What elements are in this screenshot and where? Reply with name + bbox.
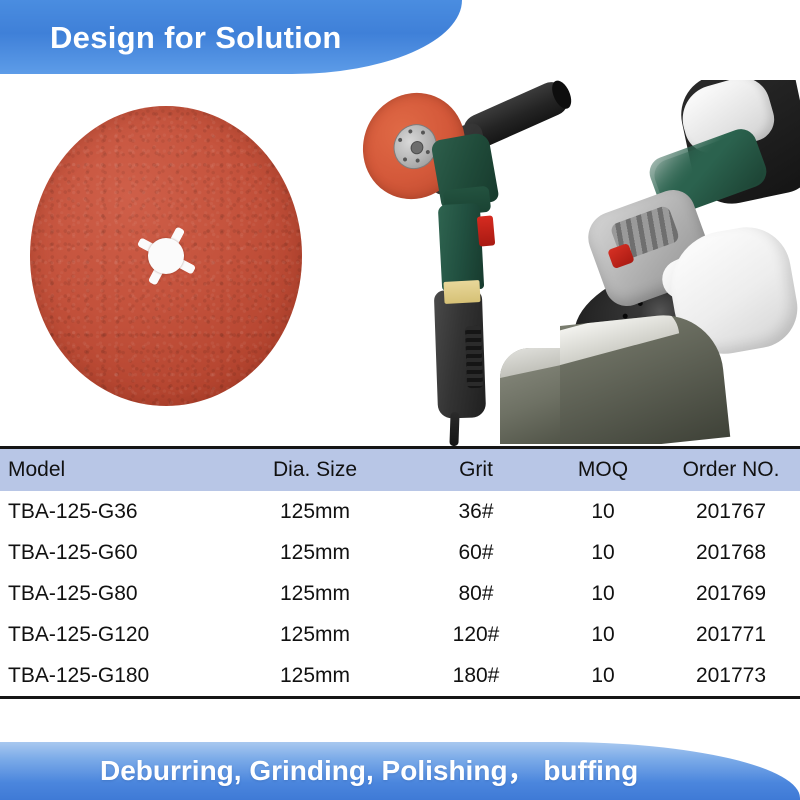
spec-table-container: Model Dia. Size Grit MOQ Order NO. TBA-1…: [0, 446, 800, 699]
cell-grit: 80#: [408, 573, 544, 614]
column-header-order-no: Order NO.: [662, 448, 800, 492]
footer-tagline: Deburring, Grinding, Polishing， buffing: [0, 757, 638, 785]
product-photo-grinder-in-use: [560, 80, 800, 444]
cell-order-no: 201771: [662, 614, 800, 655]
cell-dia-size: 125mm: [222, 532, 408, 573]
cell-order-no: 201773: [662, 655, 800, 698]
product-image-strip: [0, 76, 800, 446]
cell-grit: 120#: [408, 614, 544, 655]
cell-model: TBA-125-G180: [0, 655, 222, 698]
cell-dia-size: 125mm: [222, 614, 408, 655]
table-row: TBA-125-G180 125mm 180# 10 201773: [0, 655, 800, 698]
flange-bolt-icon: [421, 130, 426, 135]
table-row: TBA-125-G36 125mm 36# 10 201767: [0, 491, 800, 532]
cell-grit: 36#: [408, 491, 544, 532]
cell-grit: 60#: [408, 532, 544, 573]
cell-dia-size: 125mm: [222, 655, 408, 698]
cell-order-no: 201767: [662, 491, 800, 532]
flange-bolt-icon: [398, 137, 403, 142]
flange-bolt-icon: [415, 158, 420, 163]
product-photo-angle-grinder: [340, 76, 570, 444]
spec-table-body: TBA-125-G36 125mm 36# 10 201767 TBA-125-…: [0, 491, 800, 698]
table-row: TBA-125-G60 125mm 60# 10 201768: [0, 532, 800, 573]
column-header-grit: Grit: [408, 448, 544, 492]
spec-table-header: Model Dia. Size Grit MOQ Order NO.: [0, 448, 800, 492]
cell-order-no: 201769: [662, 573, 800, 614]
cell-grit: 180#: [408, 655, 544, 698]
cell-dia-size: 125mm: [222, 573, 408, 614]
table-header-row: Model Dia. Size Grit MOQ Order NO.: [0, 448, 800, 492]
cell-model: TBA-125-G36: [0, 491, 222, 532]
cell-moq: 10: [544, 532, 662, 573]
column-header-model: Model: [0, 448, 222, 492]
arbor-nut: [409, 139, 425, 156]
grinder-power-switch: [477, 215, 496, 246]
column-header-moq: MOQ: [544, 448, 662, 492]
grinder-air-vents: [465, 326, 483, 389]
table-row: TBA-125-G80 125mm 80# 10 201769: [0, 573, 800, 614]
flange-bolt-icon: [403, 157, 408, 162]
fiber-disc-face: [30, 106, 302, 406]
cell-model: TBA-125-G120: [0, 614, 222, 655]
page-title: Design for Solution: [0, 22, 342, 53]
footer-banner: Deburring, Grinding, Polishing， buffing: [0, 742, 800, 800]
grinder-spec-label: [443, 280, 480, 304]
header-banner: Design for Solution: [0, 0, 462, 74]
column-header-dia-size: Dia. Size: [222, 448, 408, 492]
cell-moq: 10: [544, 573, 662, 614]
table-row: TBA-125-G120 125mm 120# 10 201771: [0, 614, 800, 655]
flange-bolt-icon: [425, 149, 430, 154]
grinder-power-cord: [449, 412, 459, 446]
cell-model: TBA-125-G80: [0, 573, 222, 614]
cell-model: TBA-125-G60: [0, 532, 222, 573]
cell-moq: 10: [544, 614, 662, 655]
flange-bolt-icon: [408, 129, 413, 134]
product-spec-page: Design for Solution: [0, 0, 800, 800]
cell-dia-size: 125mm: [222, 491, 408, 532]
cell-moq: 10: [544, 491, 662, 532]
product-spec-table: Model Dia. Size Grit MOQ Order NO. TBA-1…: [0, 446, 800, 699]
cell-moq: 10: [544, 655, 662, 698]
disc-center-hub: [148, 238, 184, 274]
product-photo-fiber-disc: [12, 82, 330, 440]
cell-order-no: 201768: [662, 532, 800, 573]
